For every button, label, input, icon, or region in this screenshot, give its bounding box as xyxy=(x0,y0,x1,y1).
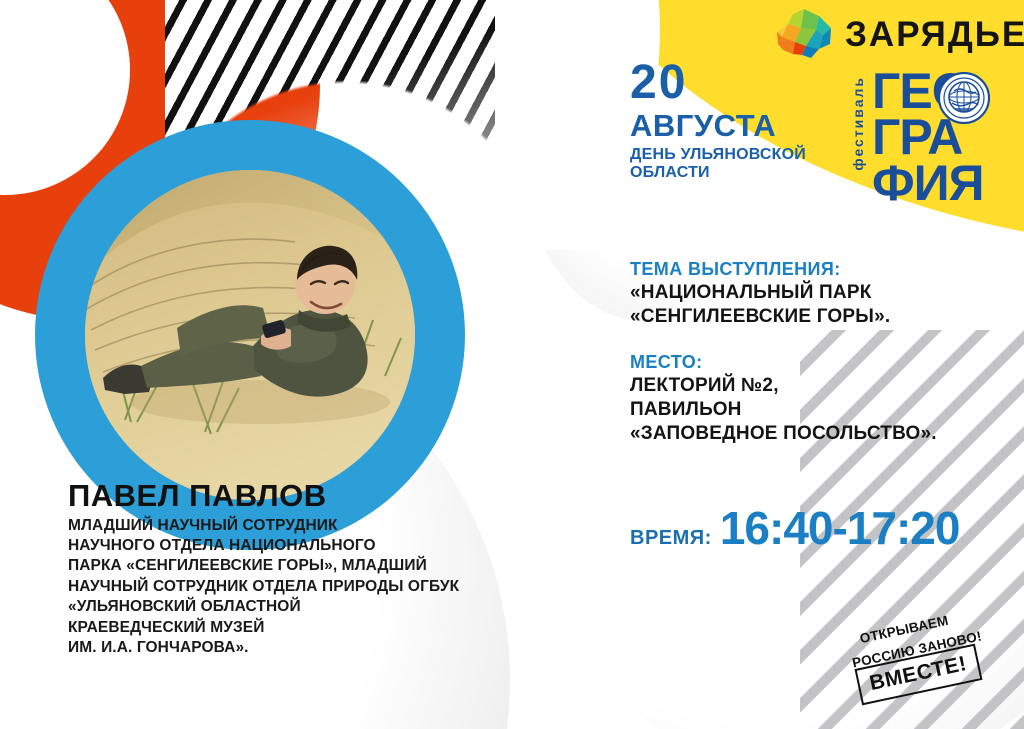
date-day: 20 xyxy=(630,60,806,106)
speaker-role-line-7: ИМ. И.А. ГОНЧАРОВА». xyxy=(68,638,498,658)
zaryadye-wordmark: ЗАРЯДЬЕ xyxy=(845,17,1024,52)
geo-line-3: ФИЯ xyxy=(872,160,984,206)
time-value: 16:40-17:20 xyxy=(720,505,960,551)
festival-vertical-label: фестиваль xyxy=(850,76,866,171)
date-month: АВГУСТА xyxy=(630,110,806,141)
date-subtitle-line-1: ДЕНЬ УЛЬЯНОВСКОЙ xyxy=(630,146,806,165)
place-line-1: ЛЕКТОРИЙ №2, xyxy=(630,374,1010,398)
topic-label: ТЕМА ВЫСТУПЛЕНИЯ: xyxy=(630,258,1010,281)
event-info-block: ТЕМА ВЫСТУПЛЕНИЯ: «НАЦИОНАЛЬНЫЙ ПАРК «СЕ… xyxy=(630,258,1010,447)
campaign-slogan: ОТКРЫВАЕМ РОССИЮ ЗАНОВО! ВМЕСТЕ! xyxy=(845,608,1015,708)
place-line-2: ПАВИЛЬОН xyxy=(630,398,1010,422)
speaker-photo xyxy=(85,170,415,500)
speaker-role-line-5: «УЛЬЯНОВСКИЙ ОБЛАСТНОЙ xyxy=(68,597,498,617)
speaker-role-line-6: КРАЕВЕДЧЕСКИЙ МУЗЕЙ xyxy=(68,618,498,638)
date-subtitle-line-2: ОБЛАСТИ xyxy=(630,164,806,183)
event-poster: ЗАРЯДЬЕ фестиваль ГЕО ГРА ФИЯ 20 АВГУСТА… xyxy=(0,0,1024,729)
event-time-row: ВРЕМЯ: 16:40-17:20 xyxy=(630,505,959,551)
zaryadye-polygon-icon xyxy=(775,8,833,60)
speaker-name: ПАВЕЛ ПАВЛОВ xyxy=(68,480,498,513)
rgs-globe-emblem-icon xyxy=(938,72,990,124)
event-date-block: 20 АВГУСТА ДЕНЬ УЛЬЯНОВСКОЙ ОБЛАСТИ xyxy=(630,60,806,183)
speaker-role-line-2: НАУЧНОГО ОТДЕЛА НАЦИОНАЛЬНОГО xyxy=(68,536,498,556)
topic-line-2: «СЕНГИЛЕЕВСКИЕ ГОРЫ». xyxy=(630,305,1010,329)
info-spacer xyxy=(630,329,1010,351)
place-label: МЕСТО: xyxy=(630,351,1010,374)
speaker-role-line-3: ПАРКА «СЕНГИЛЕЕВСКИЕ ГОРЫ», МЛАДШИЙ xyxy=(68,556,498,576)
place-line-3: «ЗАПОВЕДНОЕ ПОСОЛЬСТВО». xyxy=(630,422,1010,446)
speaker-role-line-4: НАУЧНЫЙ СОТРУДНИК ОТДЕЛА ПРИРОДЫ ОГБУК xyxy=(68,577,498,597)
topic-line-1: «НАЦИОНАЛЬНЫЙ ПАРК xyxy=(630,281,1010,305)
speaker-role-line-1: МЛАДШИЙ НАУЧНЫЙ СОТРУДНИК xyxy=(68,516,498,536)
speaker-block: ПАВЕЛ ПАВЛОВ МЛАДШИЙ НАУЧНЫЙ СОТРУДНИК Н… xyxy=(68,480,498,659)
zaryadye-logo: ЗАРЯДЬЕ xyxy=(775,8,1024,60)
festival-geografiya-logo: фестиваль ГЕО ГРА ФИЯ xyxy=(850,68,1010,223)
speaker-photo-illustration xyxy=(85,170,415,500)
time-label: ВРЕМЯ: xyxy=(630,527,712,550)
